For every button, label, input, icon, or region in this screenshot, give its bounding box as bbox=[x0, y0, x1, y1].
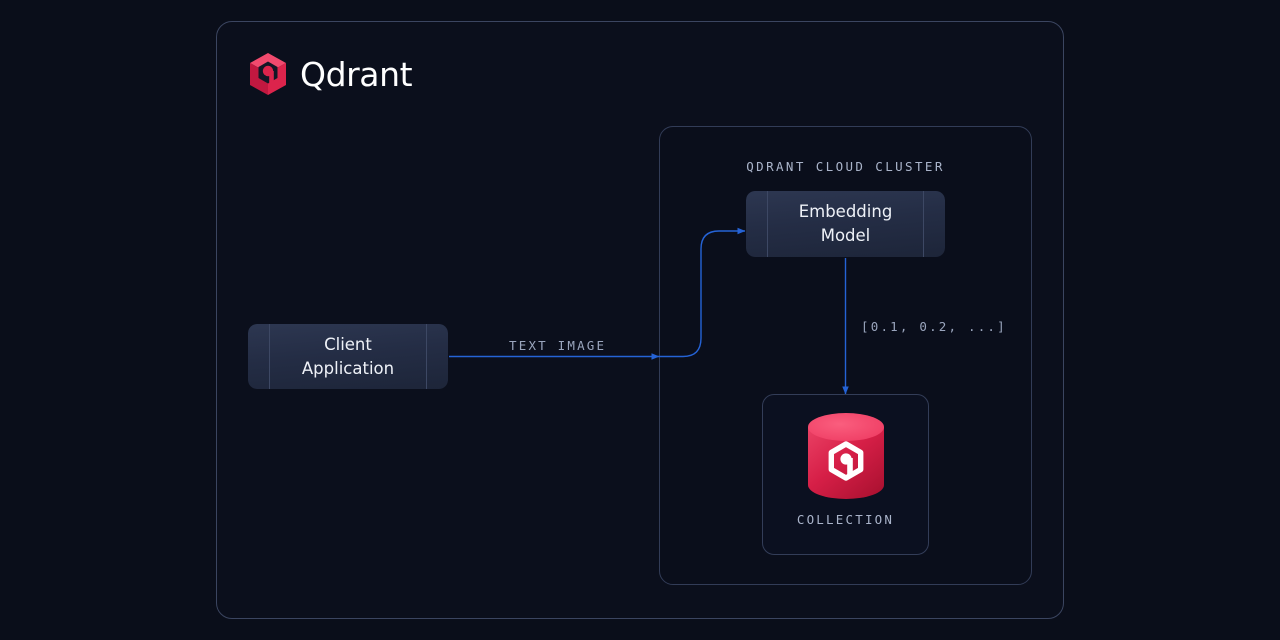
edge-label-input: TEXT IMAGE bbox=[509, 338, 606, 353]
cluster-title: QDRANT CLOUD CLUSTER bbox=[659, 159, 1032, 174]
brand-name: Qdrant bbox=[300, 58, 412, 91]
edge-label-vector: [0.1, 0.2, ...] bbox=[861, 319, 1007, 334]
node-collection-label: COLLECTION bbox=[763, 512, 928, 527]
node-client-application[interactable]: Client Application bbox=[248, 324, 448, 389]
brand-lockup: Qdrant bbox=[248, 52, 412, 96]
qdrant-hexagon-logo-icon bbox=[248, 52, 288, 96]
node-embedding-model[interactable]: Embedding Model bbox=[746, 191, 945, 257]
diagram-canvas: Qdrant QDRANT CLOUD CLUSTER TEXT IMAGE [… bbox=[0, 0, 1280, 640]
node-collection[interactable]: COLLECTION bbox=[762, 394, 929, 555]
database-cylinder-icon bbox=[804, 413, 888, 505]
node-client-application-label: Client Application bbox=[248, 324, 448, 389]
node-embedding-model-label: Embedding Model bbox=[746, 191, 945, 257]
